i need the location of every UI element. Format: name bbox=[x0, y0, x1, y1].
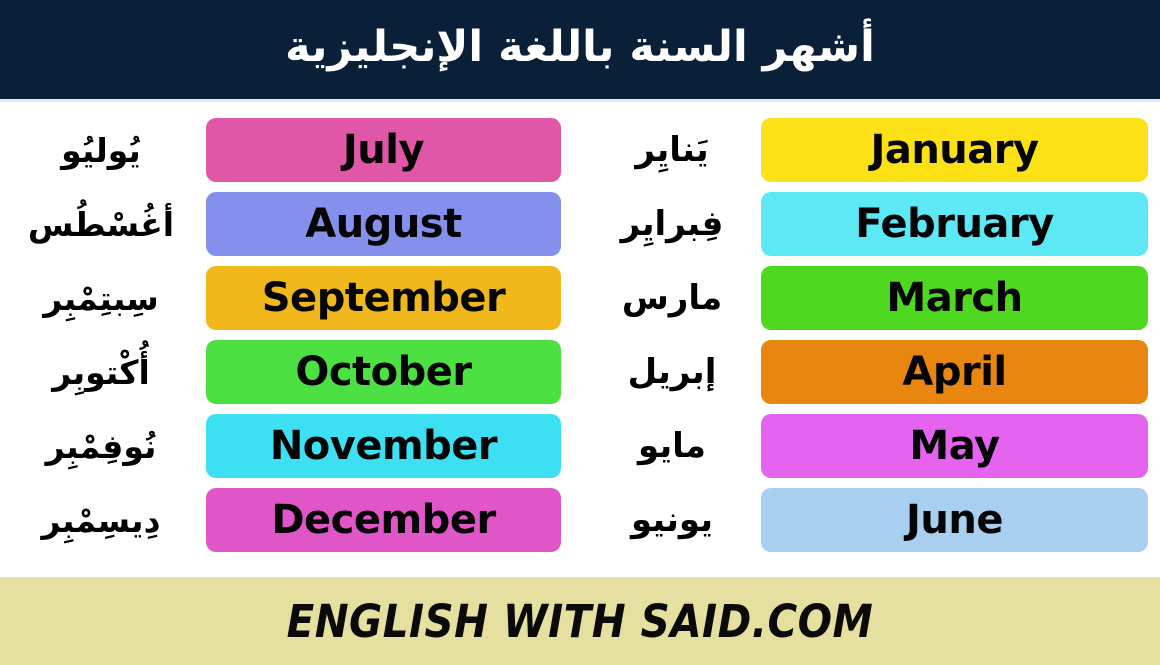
month-row[interactable]: فِبرايِر February bbox=[597, 192, 1148, 256]
poster-root: أشهر السنة باللغة الإنجليزية يُوليُو Jul… bbox=[0, 0, 1160, 665]
month-arabic-label: إبريل bbox=[597, 355, 747, 389]
month-arabic-label: دِيسِمْبِر bbox=[10, 504, 192, 537]
month-pill-february[interactable]: February bbox=[761, 192, 1148, 256]
header-bar: أشهر السنة باللغة الإنجليزية bbox=[0, 0, 1160, 99]
month-arabic-label: مايو bbox=[597, 429, 747, 463]
month-pill-december[interactable]: December bbox=[206, 488, 561, 552]
month-arabic-label: يونيو bbox=[597, 503, 747, 537]
month-arabic-label: يَنايِر bbox=[597, 133, 747, 167]
month-pill-june[interactable]: June bbox=[761, 488, 1148, 552]
month-arabic-label: فِبرايِر bbox=[597, 207, 747, 241]
month-arabic-label: سِبتِمْبِر bbox=[10, 282, 192, 315]
month-row[interactable]: يَنايِر January bbox=[597, 118, 1148, 182]
month-english-label: November bbox=[270, 426, 497, 466]
month-row[interactable]: نُوفِمْبِر November bbox=[10, 414, 561, 478]
month-arabic-label: مارس bbox=[597, 281, 747, 315]
month-pill-august[interactable]: August bbox=[206, 192, 561, 256]
month-arabic-label: نُوفِمْبِر bbox=[10, 430, 192, 463]
month-english-label: December bbox=[271, 500, 495, 540]
month-row[interactable]: مايو May bbox=[597, 414, 1148, 478]
month-row[interactable]: سِبتِمْبِر September bbox=[10, 266, 561, 330]
months-board: يُوليُو July أغُسْطُس August سِبتِمْبِر … bbox=[0, 102, 1160, 577]
month-row[interactable]: دِيسِمْبِر December bbox=[10, 488, 561, 552]
month-english-label: January bbox=[870, 130, 1038, 170]
page-title: أشهر السنة باللغة الإنجليزية bbox=[285, 25, 875, 74]
month-english-label: May bbox=[909, 426, 999, 466]
month-row[interactable]: أُكْتوبِر October bbox=[10, 340, 561, 404]
month-row[interactable]: يُوليُو July bbox=[10, 118, 561, 182]
month-arabic-label: يُوليُو bbox=[10, 134, 192, 167]
month-arabic-label: أغُسْطُس bbox=[10, 208, 192, 241]
month-english-label: August bbox=[305, 204, 461, 244]
month-pill-march[interactable]: March bbox=[761, 266, 1148, 330]
month-row[interactable]: مارس March bbox=[597, 266, 1148, 330]
month-pill-july[interactable]: July bbox=[206, 118, 561, 182]
month-english-label: September bbox=[262, 278, 506, 318]
month-english-label: July bbox=[343, 130, 424, 170]
month-row[interactable]: يونيو June bbox=[597, 488, 1148, 552]
footer-bar: ENGLISH WITH SAID.COM bbox=[0, 577, 1160, 665]
month-arabic-label: أُكْتوبِر bbox=[10, 356, 192, 389]
months-column-left: يُوليُو July أغُسْطُس August سِبتِمْبِر … bbox=[10, 118, 597, 571]
month-english-label: April bbox=[902, 352, 1006, 392]
month-row[interactable]: إبريل April bbox=[597, 340, 1148, 404]
month-pill-may[interactable]: May bbox=[761, 414, 1148, 478]
month-pill-october[interactable]: October bbox=[206, 340, 561, 404]
month-pill-january[interactable]: January bbox=[761, 118, 1148, 182]
month-pill-september[interactable]: September bbox=[206, 266, 561, 330]
month-english-label: March bbox=[886, 278, 1022, 318]
month-english-label: February bbox=[855, 204, 1053, 244]
month-pill-april[interactable]: April bbox=[761, 340, 1148, 404]
footer-branding: ENGLISH WITH SAID.COM bbox=[287, 595, 874, 648]
month-row[interactable]: أغُسْطُس August bbox=[10, 192, 561, 256]
month-pill-november[interactable]: November bbox=[206, 414, 561, 478]
month-english-label: June bbox=[906, 500, 1003, 540]
month-english-label: October bbox=[295, 352, 471, 392]
months-column-right: يَنايِر January فِبرايِر February مارس M… bbox=[597, 118, 1150, 571]
